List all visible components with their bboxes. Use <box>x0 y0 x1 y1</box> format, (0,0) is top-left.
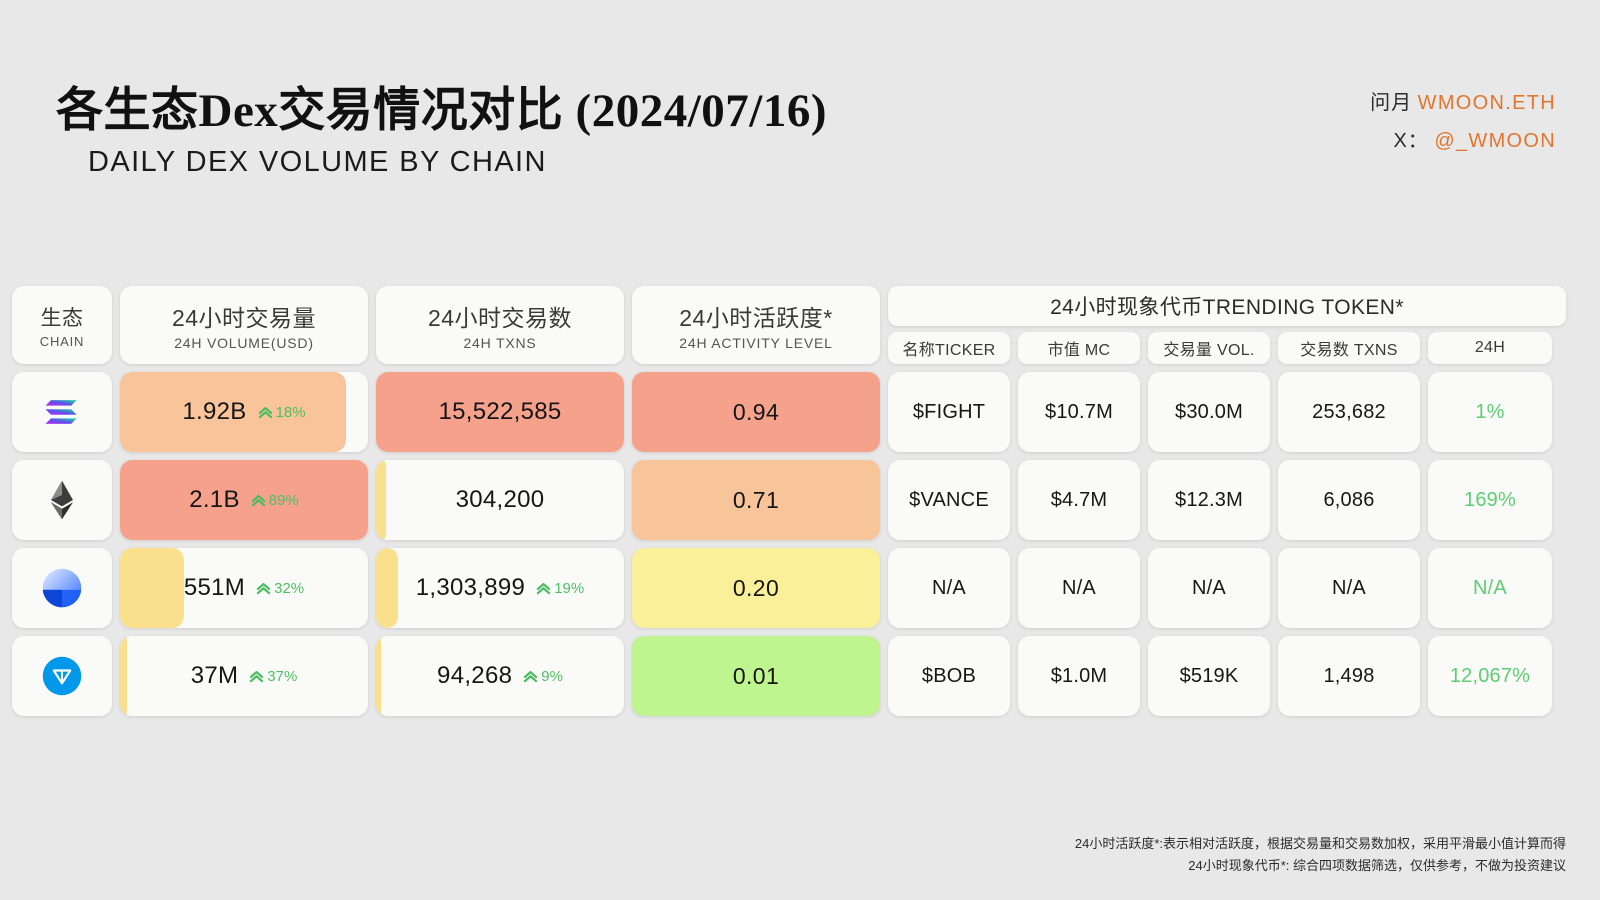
txns-cell[interactable]: 1,303,899 19% <box>376 548 624 628</box>
header-chain-cn: 生态 <box>41 302 84 332</box>
txns-value: 1,303,899 <box>416 574 525 602</box>
volume-value-wrap: 551M 32% <box>120 574 368 602</box>
brand-label-cn: 问月 <box>1370 92 1412 114</box>
chevron-up-icon <box>248 668 265 685</box>
volume-delta-pct: 18% <box>276 404 306 421</box>
title-block: 各生态Dex交易情况对比 (2024/07/16) DAILY DEX VOLU… <box>56 84 827 179</box>
header-trending-ticker: 名称TICKER <box>888 332 1010 364</box>
token-change: 169% <box>1464 489 1516 512</box>
brand-ens-name[interactable]: WMOON.ETH <box>1418 92 1556 114</box>
header-trending-24h: 24H <box>1428 332 1552 364</box>
header-chain-en: CHAIN <box>40 334 84 349</box>
header-txns: 24小时交易数 24H TXNS <box>376 286 624 364</box>
volume-value-wrap: 2.1B 89% <box>120 486 368 514</box>
token-change: 1% <box>1475 401 1504 424</box>
volume-delta-pct: 37% <box>267 668 297 685</box>
token-change-cell[interactable]: 1% <box>1428 372 1552 452</box>
header-trending-title: 24小时现象代币TRENDING TOKEN* <box>888 286 1566 326</box>
token-mc-cell[interactable]: $10.7M <box>1018 372 1140 452</box>
header-volume: 24小时交易量 24H VOLUME(USD) <box>120 286 368 364</box>
txns-cell[interactable]: 15,522,585 <box>376 372 624 452</box>
solana-icon <box>40 390 84 434</box>
volume-delta: 32% <box>255 580 304 597</box>
token-vol: $30.0M <box>1175 401 1243 424</box>
ton-icon <box>40 654 84 698</box>
token-vol-cell[interactable]: N/A <box>1148 548 1270 628</box>
activity-cell[interactable]: 0.20 <box>632 548 880 628</box>
volume-delta-pct: 89% <box>269 492 299 509</box>
header-volume-cn: 24小时交易量 <box>172 299 316 333</box>
chevron-up-icon <box>255 580 272 597</box>
table-row: 551M 32% 1,303,899 19% 0.20 N/A N/A N/A … <box>12 548 1566 628</box>
volume-value: 551M <box>184 574 245 602</box>
token-vol-cell[interactable]: $519K <box>1148 636 1270 716</box>
brand-block: 问月 WMOON.ETH X： @_WMOON <box>1370 84 1556 160</box>
token-change: N/A <box>1473 577 1507 600</box>
chevron-up-icon <box>257 404 274 421</box>
token-ticker-cell[interactable]: $VANCE <box>888 460 1010 540</box>
token-vol: $12.3M <box>1175 489 1243 512</box>
activity-cell[interactable]: 0.94 <box>632 372 880 452</box>
token-mc: $1.0M <box>1051 665 1108 688</box>
volume-cell[interactable]: 37M 37% <box>120 636 368 716</box>
volume-value-wrap: 37M 37% <box>120 662 368 690</box>
chain-cell[interactable] <box>12 548 112 628</box>
base-icon <box>40 566 84 610</box>
token-ticker: N/A <box>932 577 966 600</box>
table-row: 2.1B 89% 304,200 0.71 $VANCE $4.7M $12.3… <box>12 460 1566 540</box>
footnotes: 24小时活跃度*:表示相对活跃度，根据交易量和交易数加权，采用平滑最小值计算而得… <box>1075 833 1566 876</box>
footnote-activity: 24小时活跃度*:表示相对活跃度，根据交易量和交易数加权，采用平滑最小值计算而得 <box>1075 833 1566 854</box>
volume-delta: 37% <box>248 668 297 685</box>
page-header: 各生态Dex交易情况对比 (2024/07/16) DAILY DEX VOLU… <box>0 0 1600 250</box>
token-mc: $10.7M <box>1045 401 1113 424</box>
header-trending-mc: 市值 MC <box>1018 332 1140 364</box>
token-ticker: $FIGHT <box>913 401 985 424</box>
comparison-table: 生态 CHAIN 24小时交易量 24H VOLUME(USD) 24小时交易数… <box>12 286 1566 724</box>
token-change-cell[interactable]: N/A <box>1428 548 1552 628</box>
token-vol: N/A <box>1192 577 1226 600</box>
header-trending-group: 24小时现象代币TRENDING TOKEN* 名称TICKER 市值 MC 交… <box>888 286 1566 364</box>
chevron-up-icon <box>250 492 267 509</box>
token-txns-cell[interactable]: N/A <box>1278 548 1420 628</box>
token-mc-cell[interactable]: $4.7M <box>1018 460 1140 540</box>
brand-x-handle[interactable]: @_WMOON <box>1434 130 1556 152</box>
token-mc-cell[interactable]: $1.0M <box>1018 636 1140 716</box>
activity-value: 0.20 <box>733 575 779 602</box>
txns-cell[interactable]: 304,200 <box>376 460 624 540</box>
token-txns-cell[interactable]: 253,682 <box>1278 372 1420 452</box>
token-txns: 253,682 <box>1312 401 1386 424</box>
token-ticker-cell[interactable]: N/A <box>888 548 1010 628</box>
token-txns-cell[interactable]: 1,498 <box>1278 636 1420 716</box>
chain-cell[interactable] <box>12 372 112 452</box>
activity-value: 0.71 <box>733 487 779 514</box>
token-ticker: $BOB <box>922 665 976 688</box>
table-row: 37M 37% 94,268 9% 0.01 $BOB $1.0M $519K … <box>12 636 1566 716</box>
chain-cell[interactable] <box>12 636 112 716</box>
txns-value-wrap: 15,522,585 <box>376 398 624 426</box>
volume-value: 2.1B <box>189 486 240 514</box>
page-title: 各生态Dex交易情况对比 (2024/07/16) <box>56 84 827 138</box>
volume-value: 1.92B <box>182 398 246 426</box>
volume-delta: 18% <box>257 404 306 421</box>
header-activity-cn: 24小时活跃度* <box>679 299 833 333</box>
token-txns: 1,498 <box>1323 665 1374 688</box>
token-txns: 6,086 <box>1323 489 1374 512</box>
footnote-trending: 24小时现象代币*: 综合四项数据筛选，仅供参考，不做为投资建议 <box>1075 855 1566 876</box>
volume-cell[interactable]: 1.92B 18% <box>120 372 368 452</box>
ethereum-icon <box>40 478 84 522</box>
token-txns-cell[interactable]: 6,086 <box>1278 460 1420 540</box>
header-activity-en: 24H ACTIVITY LEVEL <box>679 335 832 351</box>
txns-cell[interactable]: 94,268 9% <box>376 636 624 716</box>
brand-social-row: X： @_WMOON <box>1370 122 1556 160</box>
activity-cell[interactable]: 0.01 <box>632 636 880 716</box>
txns-delta: 19% <box>535 580 584 597</box>
token-change: 12,067% <box>1450 665 1530 688</box>
token-mc: $4.7M <box>1051 489 1108 512</box>
header-activity: 24小时活跃度* 24H ACTIVITY LEVEL <box>632 286 880 364</box>
token-change-cell[interactable]: 169% <box>1428 460 1552 540</box>
activity-value: 0.01 <box>733 663 779 690</box>
header-volume-en: 24H VOLUME(USD) <box>174 335 314 351</box>
txns-value-wrap: 94,268 9% <box>376 662 624 690</box>
header-trending-subrow: 名称TICKER 市值 MC 交易量 VOL. 交易数 TXNS 24H <box>888 332 1566 364</box>
txns-delta-pct: 19% <box>554 580 584 597</box>
volume-value-wrap: 1.92B 18% <box>120 398 368 426</box>
txns-value: 304,200 <box>456 486 545 514</box>
infographic-page: 各生态Dex交易情况对比 (2024/07/16) DAILY DEX VOLU… <box>0 0 1600 900</box>
volume-cell[interactable]: 2.1B 89% <box>120 460 368 540</box>
token-ticker-cell[interactable]: $BOB <box>888 636 1010 716</box>
txns-value-wrap: 1,303,899 19% <box>376 574 624 602</box>
activity-cell[interactable]: 0.71 <box>632 460 880 540</box>
brand-name-row: 问月 WMOON.ETH <box>1370 84 1556 122</box>
activity-value: 0.94 <box>733 399 779 426</box>
table-body: 1.92B 18% 15,522,585 0.94 $FIGHT $10.7M … <box>12 372 1566 716</box>
txns-value: 94,268 <box>437 662 512 690</box>
token-txns: N/A <box>1332 577 1366 600</box>
token-vol-cell[interactable]: $30.0M <box>1148 372 1270 452</box>
token-vol-cell[interactable]: $12.3M <box>1148 460 1270 540</box>
txns-delta: 9% <box>522 668 563 685</box>
header-txns-en: 24H TXNS <box>463 335 536 351</box>
chevron-up-icon <box>535 580 552 597</box>
token-change-cell[interactable]: 12,067% <box>1428 636 1552 716</box>
volume-value: 37M <box>191 662 239 690</box>
token-mc-cell[interactable]: N/A <box>1018 548 1140 628</box>
chain-cell[interactable] <box>12 460 112 540</box>
volume-delta-pct: 32% <box>274 580 304 597</box>
header-trending-vol: 交易量 VOL. <box>1148 332 1270 364</box>
volume-cell[interactable]: 551M 32% <box>120 548 368 628</box>
chevron-up-icon <box>522 668 539 685</box>
token-mc: N/A <box>1062 577 1096 600</box>
txns-value-wrap: 304,200 <box>376 486 624 514</box>
token-vol: $519K <box>1180 665 1239 688</box>
token-ticker-cell[interactable]: $FIGHT <box>888 372 1010 452</box>
txns-delta-pct: 9% <box>541 668 563 685</box>
volume-delta: 89% <box>250 492 299 509</box>
header-txns-cn: 24小时交易数 <box>428 299 572 333</box>
txns-value: 15,522,585 <box>438 398 561 426</box>
table-header-row: 生态 CHAIN 24小时交易量 24H VOLUME(USD) 24小时交易数… <box>12 286 1566 364</box>
brand-x-label: X： <box>1393 130 1428 152</box>
token-ticker: $VANCE <box>909 489 989 512</box>
table-row: 1.92B 18% 15,522,585 0.94 $FIGHT $10.7M … <box>12 372 1566 452</box>
page-subtitle: DAILY DEX VOLUME BY CHAIN <box>88 146 827 179</box>
header-trending-txns: 交易数 TXNS <box>1278 332 1420 364</box>
header-chain: 生态 CHAIN <box>12 286 112 364</box>
